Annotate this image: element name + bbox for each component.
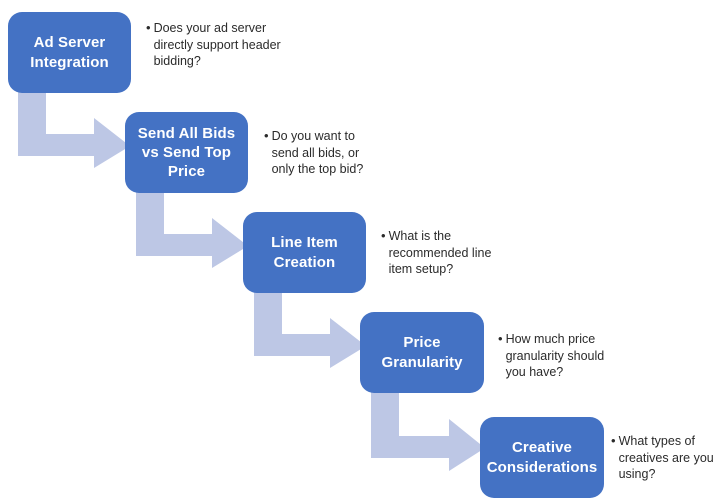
bullet-icon: • [264, 128, 269, 145]
step-label-creative-considerations: Creative Considerations [487, 438, 598, 476]
bullet-icon: • [498, 331, 503, 348]
step-label-ad-server-integration: Ad Server Integration [30, 33, 109, 71]
note-line-item-creation: • What is the recommended line item setu… [381, 228, 503, 278]
bullet-icon: • [146, 20, 151, 37]
note-price-granularity: • How much price granularity should you … [498, 331, 620, 381]
connector-2-to-3-arrow [136, 188, 248, 268]
note-text-creative-considerations: What types of creatives are you using? [619, 433, 719, 483]
step-box-ad-server-integration[interactable]: Ad Server Integration [8, 12, 131, 93]
connector-1-to-2-arrow [18, 88, 130, 168]
step-label-send-all-bids-vs-send-top-price: Send All Bids vs Send Top Price [138, 124, 235, 182]
note-text-send-all-bids-vs-send-top-price: Do you want to send all bids, or only th… [272, 128, 384, 178]
note-text-price-granularity: How much price granularity should you ha… [506, 331, 620, 381]
note-text-line-item-creation: What is the recommended line item setup? [389, 228, 503, 278]
connector-4-to-5-arrow [371, 388, 485, 472]
note-text-ad-server-integration: Does your ad server directly support hea… [154, 20, 291, 70]
note-ad-server-integration: • Does your ad server directly support h… [146, 20, 291, 70]
flowchart-canvas: Ad Server Integration Send All Bids vs S… [0, 0, 723, 500]
step-box-send-all-bids-vs-send-top-price[interactable]: Send All Bids vs Send Top Price [125, 112, 248, 193]
bullet-icon: • [381, 228, 386, 245]
step-box-price-granularity[interactable]: Price Granularity [360, 312, 484, 393]
step-box-line-item-creation[interactable]: Line Item Creation [243, 212, 366, 293]
bullet-icon: • [611, 433, 616, 450]
note-creative-considerations: • What types of creatives are you using? [611, 433, 719, 483]
connector-3-to-4-arrow [254, 288, 366, 368]
step-label-price-granularity: Price Granularity [381, 333, 462, 371]
step-label-line-item-creation: Line Item Creation [271, 233, 338, 271]
step-box-creative-considerations[interactable]: Creative Considerations [480, 417, 604, 498]
note-send-all-bids-vs-send-top-price: • Do you want to send all bids, or only … [264, 128, 384, 178]
